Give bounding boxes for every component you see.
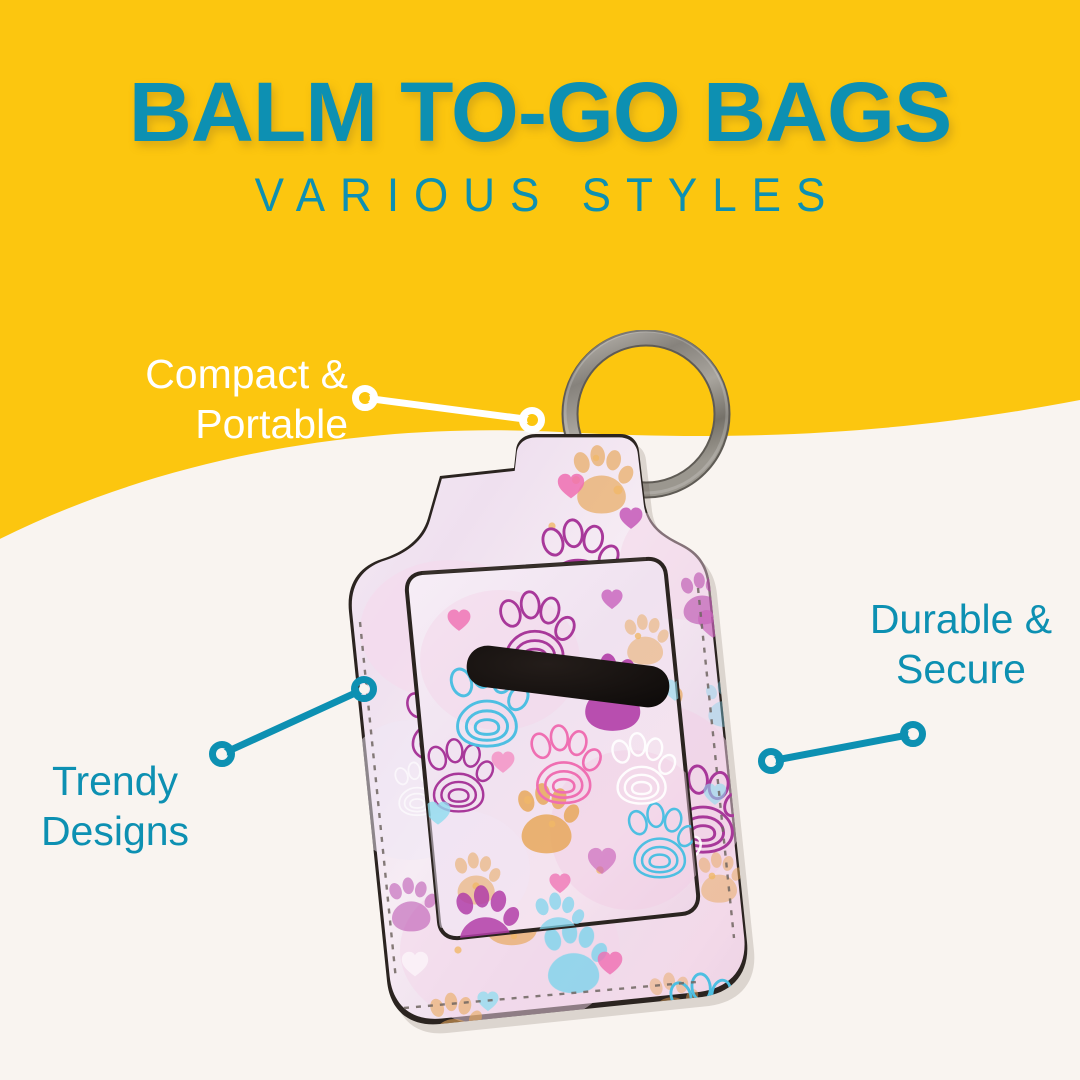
pouch-body: [340, 434, 760, 1050]
infographic-canvas: BALM TO-GO BAGS VARIOUS STYLES: [0, 0, 1080, 1080]
callout-trendy-designs: Trendy Designs: [0, 756, 230, 856]
callout-compact-line2: Portable: [0, 399, 348, 449]
product-image: [300, 330, 820, 1050]
product-illustration: [300, 330, 820, 1050]
page-subtitle: VARIOUS STYLES: [0, 170, 1080, 222]
callout-durable-secure: Durable & Secure: [842, 594, 1080, 694]
callout-compact-portable: Compact & Portable: [0, 349, 348, 449]
callout-durable-line1: Durable &: [842, 594, 1080, 644]
callout-compact-line1: Compact &: [0, 349, 348, 399]
header-block: BALM TO-GO BAGS VARIOUS STYLES: [0, 68, 1080, 220]
page-title: BALM TO-GO BAGS: [0, 68, 1080, 156]
callout-durable-line2: Secure: [842, 644, 1080, 694]
callout-trendy-line1: Trendy: [0, 756, 230, 806]
callout-trendy-line2: Designs: [0, 806, 230, 856]
